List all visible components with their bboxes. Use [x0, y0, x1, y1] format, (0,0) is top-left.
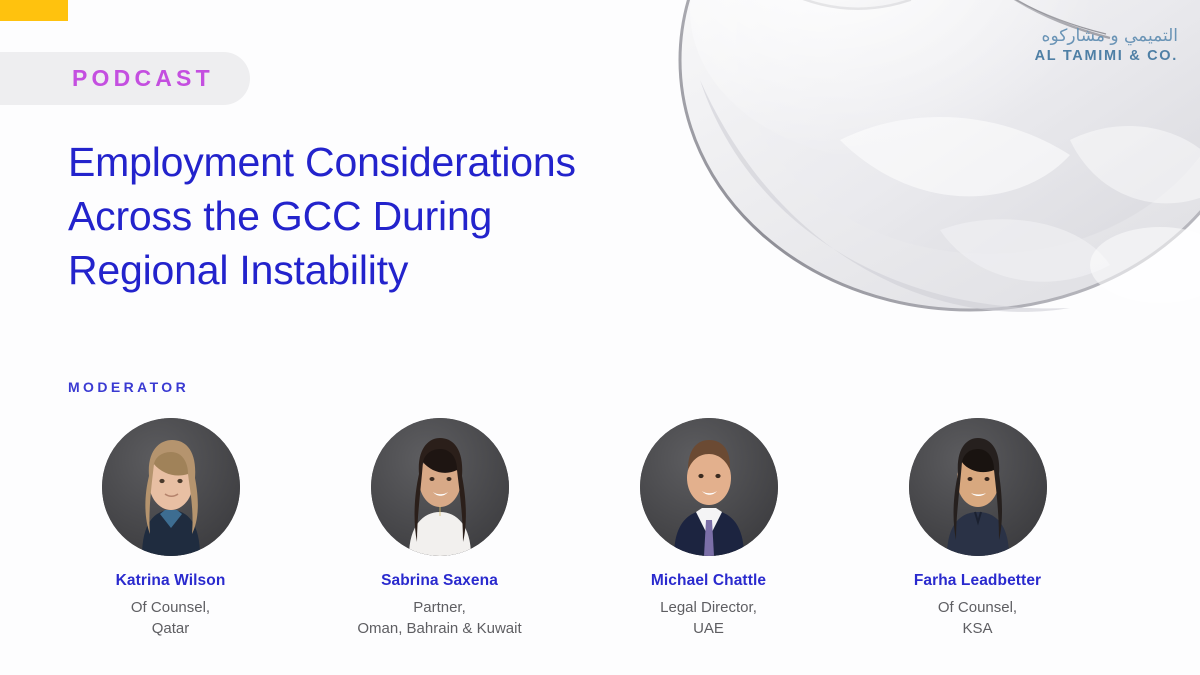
- avatar: [909, 418, 1047, 556]
- speaker-region: Oman, Bahrain & Kuwait: [357, 618, 521, 639]
- podcast-title-card: التميمي و مشاركوه AL TAMIMI & CO. PODCAS…: [0, 0, 1200, 675]
- speaker-name: Michael Chattle: [651, 572, 766, 591]
- speaker-card: Farha Leadbetter Of Counsel, KSA: [843, 418, 1112, 639]
- speaker-region: UAE: [693, 618, 724, 639]
- logo-latin-text: AL TAMIMI & CO.: [1035, 49, 1178, 64]
- title-line-3: Regional Instability: [68, 243, 768, 297]
- speaker-name: Farha Leadbetter: [914, 572, 1041, 591]
- speakers-row: Katrina Wilson Of Counsel, Qatar: [36, 418, 1162, 639]
- speaker-role: Of Counsel,: [131, 597, 210, 618]
- speaker-role: Legal Director,: [660, 597, 757, 618]
- speaker-role: Of Counsel,: [938, 597, 1017, 618]
- speaker-region: KSA: [962, 618, 992, 639]
- speaker-name: Sabrina Saxena: [381, 572, 498, 591]
- podcast-badge-label: PODCAST: [72, 65, 214, 92]
- speaker-card: Sabrina Saxena Partner, Oman, Bahrain & …: [305, 418, 574, 639]
- al-tamimi-logo: التميمي و مشاركوه AL TAMIMI & CO.: [1035, 28, 1178, 64]
- avatar: [371, 418, 509, 556]
- speaker-role: Partner,: [413, 597, 466, 618]
- speaker-region: Qatar: [152, 618, 190, 639]
- avatar: [102, 418, 240, 556]
- page-title: Employment Considerations Across the GCC…: [68, 135, 768, 297]
- logo-arabic-text: التميمي و مشاركوه: [1035, 28, 1178, 45]
- yellow-accent-block: [0, 0, 68, 21]
- speaker-name: Katrina Wilson: [116, 572, 226, 591]
- title-line-1: Employment Considerations: [68, 135, 768, 189]
- speaker-card: Katrina Wilson Of Counsel, Qatar: [36, 418, 305, 639]
- podcast-badge: PODCAST: [0, 52, 250, 105]
- title-line-2: Across the GCC During: [68, 189, 768, 243]
- moderator-label: MODERATOR: [68, 379, 189, 395]
- speaker-card: Michael Chattle Legal Director, UAE: [574, 418, 843, 639]
- avatar: [640, 418, 778, 556]
